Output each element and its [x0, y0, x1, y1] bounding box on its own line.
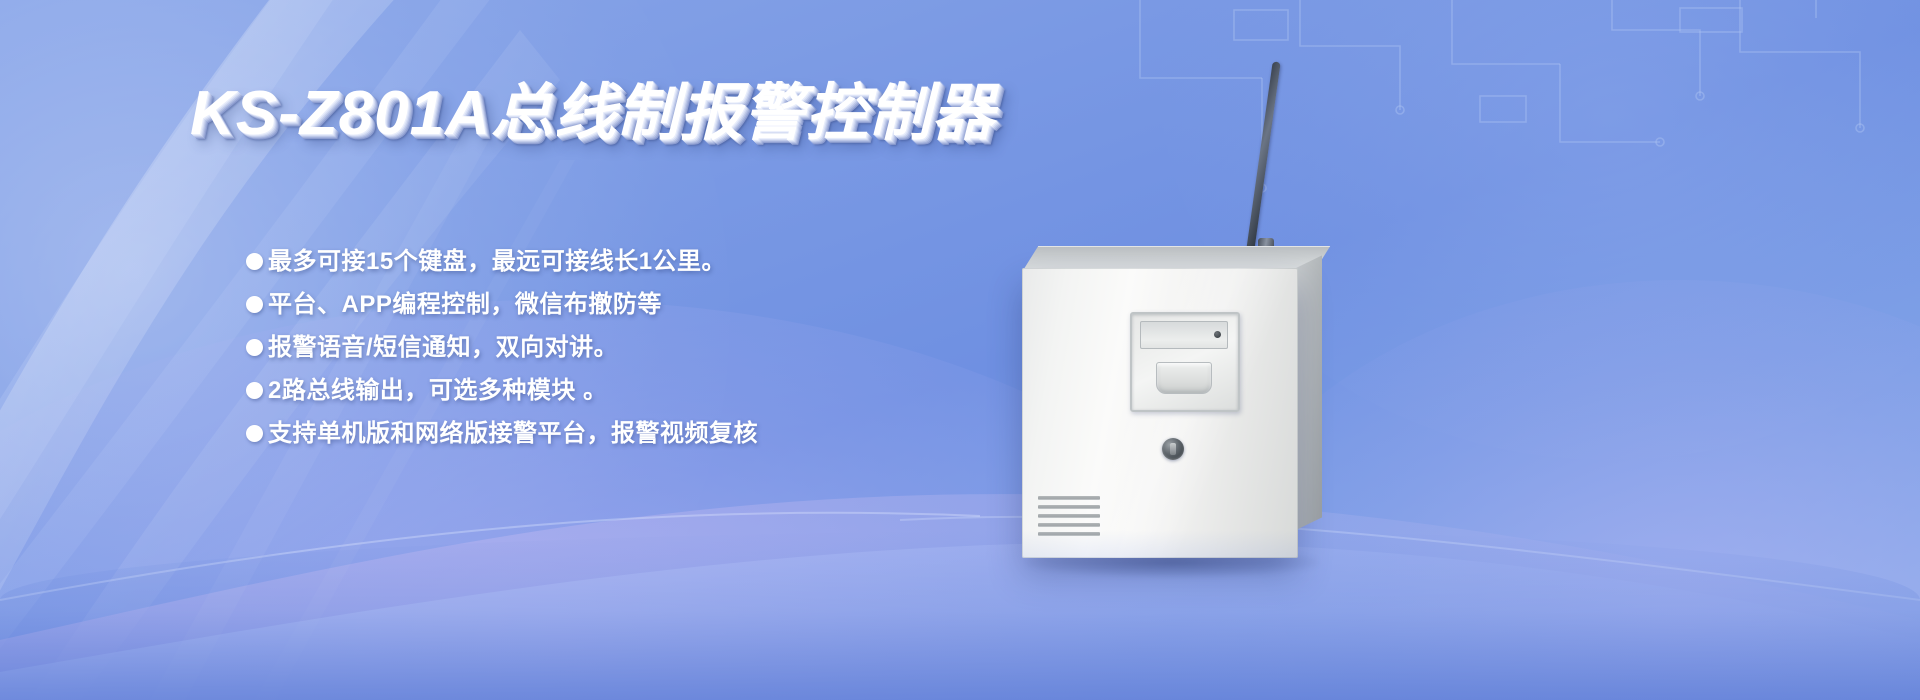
- vent-slot: [1038, 514, 1100, 518]
- bullet-dot-icon: [246, 425, 263, 442]
- door-lock-icon: [1162, 438, 1184, 460]
- bullet-dot-icon: [246, 339, 263, 356]
- list-item: 报警语音/短信通知，双向对讲。: [246, 326, 1006, 369]
- list-item: 最多可接15个键盘，最远可接线长1公里。: [246, 240, 1006, 283]
- enclosure-side-face: [1296, 255, 1322, 530]
- indicator-led-icon: [1214, 331, 1221, 338]
- door-handle: [1156, 362, 1212, 394]
- vent-slot: [1038, 496, 1100, 500]
- vent-slot: [1038, 505, 1100, 509]
- feature-text: 平台、APP编程控制，微信布撤防等: [268, 292, 662, 318]
- product-promo-banner: KS-Z801A总线制报警控制器 最多可接15个键盘，最远可接线长1公里。 平台…: [0, 0, 1920, 700]
- keypad-window: [1130, 312, 1240, 412]
- bullet-dot-icon: [246, 253, 263, 270]
- list-item: 平台、APP编程控制，微信布撤防等: [246, 283, 1006, 326]
- feature-text: 2路总线输出，可选多种模块 。: [268, 378, 608, 404]
- bottom-gradient-sweep: [0, 530, 1920, 700]
- display-slot: [1140, 321, 1228, 349]
- feature-list: 最多可接15个键盘，最远可接线长1公里。 平台、APP编程控制，微信布撤防等 报…: [246, 240, 1006, 455]
- list-item: 2路总线输出，可选多种模块 。: [246, 369, 1006, 412]
- bullet-dot-icon: [246, 296, 263, 313]
- antenna: [1246, 61, 1281, 252]
- feature-text: 支持单机版和网络版接警平台，报警视频复核: [268, 421, 758, 447]
- feature-text: 报警语音/短信通知，双向对讲。: [268, 335, 618, 361]
- feature-text: 最多可接15个键盘，最远可接线长1公里。: [268, 249, 726, 275]
- list-item: 支持单机版和网络版接警平台，报警视频复核: [246, 412, 1006, 455]
- vent-slot: [1038, 523, 1100, 527]
- bullet-dot-icon: [246, 382, 263, 399]
